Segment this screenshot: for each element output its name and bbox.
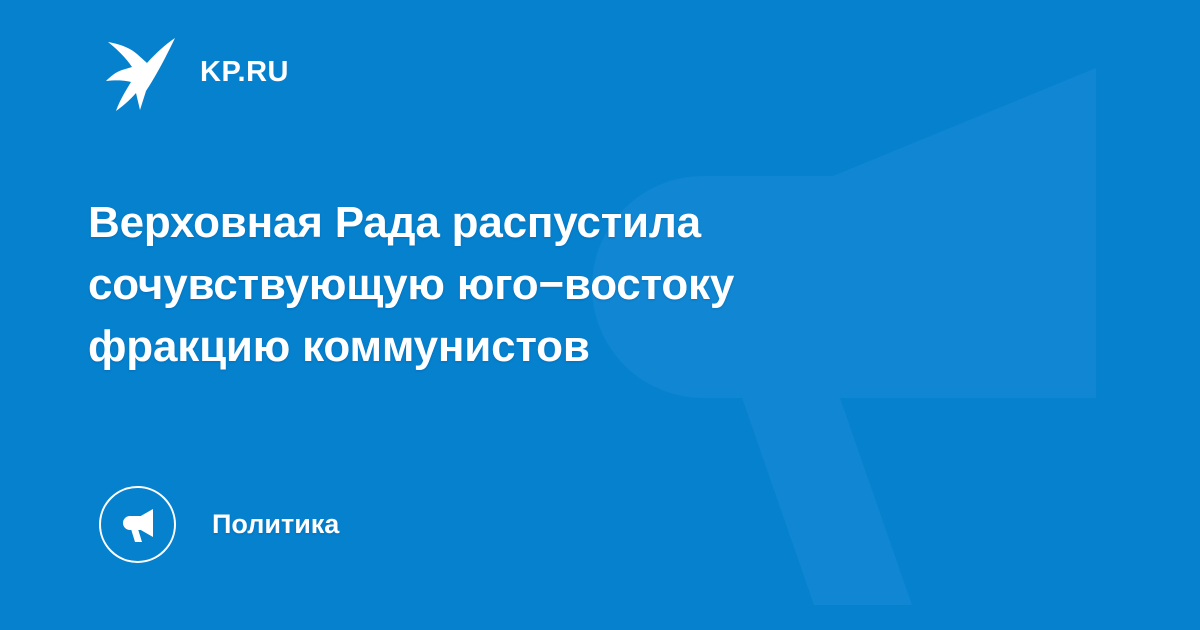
- brand-logo[interactable]: KP.RU: [104, 34, 289, 114]
- brand-name: KP.RU: [200, 58, 289, 91]
- category-badge[interactable]: Политика: [99, 486, 339, 563]
- swallow-bird-icon: [104, 36, 178, 112]
- headline-line: Верховная Рада распустила: [88, 192, 1008, 254]
- megaphone-icon: [99, 486, 176, 563]
- page-title: Верховная Рада распустила сочувствующую …: [88, 192, 1008, 378]
- social-share-card: KP.RU Верховная Рада распустила сочувств…: [0, 0, 1200, 630]
- headline-line: фракцию коммунистов: [88, 316, 1008, 378]
- headline-line: сочувствующую юго−востоку: [88, 254, 1008, 316]
- category-label: Политика: [212, 511, 339, 538]
